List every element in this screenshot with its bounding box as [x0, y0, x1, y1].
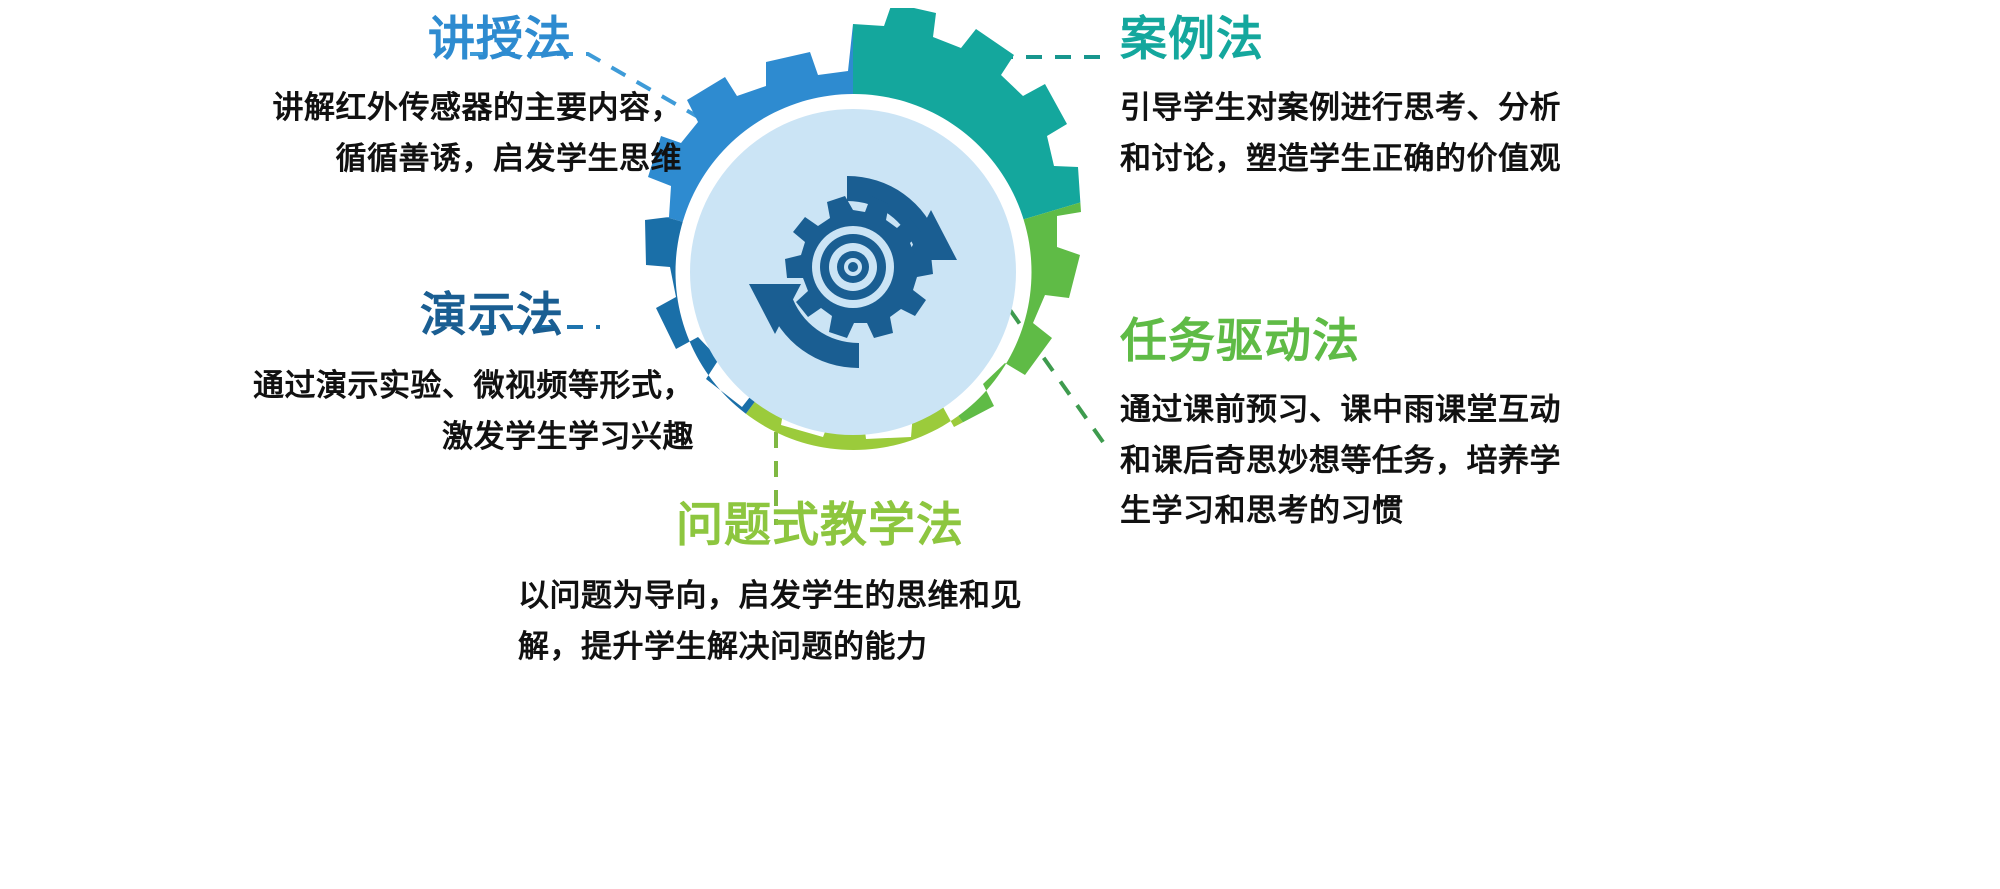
callout-demo: 演示法 通过演示实验、微视频等形式， 激发学生学习兴趣 — [120, 290, 700, 462]
callout-body-demo: 通过演示实验、微视频等形式， 激发学生学习兴趣 — [120, 361, 700, 461]
callout-line: 通过演示实验、微视频等形式， — [120, 361, 694, 411]
callout-title-task: 任务驱动法 — [1120, 316, 2000, 365]
callout-problem: 问题式教学法 以问题为导向，启发学生的思维和见 解，提升学生解决问题的能力 — [470, 500, 1170, 672]
callout-line: 和讨论，塑造学生正确的价值观 — [1120, 134, 2000, 184]
callout-line: 生学习和思考的习惯 — [1120, 486, 2000, 536]
callout-title-problem: 问题式教学法 — [470, 500, 1170, 549]
callout-line: 以问题为导向，启发学生的思维和见 — [518, 571, 1170, 621]
callout-task: 任务驱动法 通过课前预习、课中雨课堂互动 和课后奇思妙想等任务，培养学 生学习和… — [1120, 316, 2000, 536]
callout-title-demo: 演示法 — [120, 290, 700, 339]
infographic-canvas: 讲授法 讲解红外传感器的主要内容， 循循善诱，启发学生思维 案例法 引导学生对案… — [0, 0, 2000, 889]
callout-case: 案例法 引导学生对案例进行思考、分析 和讨论，塑造学生正确的价值观 — [1120, 14, 2000, 184]
callout-line: 讲解红外传感器的主要内容， — [140, 83, 682, 133]
callout-lecture: 讲授法 讲解红外传感器的主要内容， 循循善诱，启发学生思维 — [140, 14, 700, 184]
callout-body-problem: 以问题为导向，启发学生的思维和见 解，提升学生解决问题的能力 — [470, 571, 1170, 671]
callout-line: 和课后奇思妙想等任务，培养学 — [1120, 436, 2000, 486]
callout-line: 解，提升学生解决问题的能力 — [518, 622, 1170, 672]
callout-line: 通过课前预习、课中雨课堂互动 — [1120, 385, 2000, 435]
callout-body-case: 引导学生对案例进行思考、分析 和讨论，塑造学生正确的价值观 — [1120, 83, 2000, 183]
callout-line: 激发学生学习兴趣 — [120, 412, 694, 462]
callout-body-lecture: 讲解红外传感器的主要内容， 循循善诱，启发学生思维 — [140, 83, 700, 183]
callout-line: 引导学生对案例进行思考、分析 — [1120, 83, 2000, 133]
callout-line: 循循善诱，启发学生思维 — [140, 134, 682, 184]
callout-title-lecture: 讲授法 — [140, 14, 700, 63]
callout-body-task: 通过课前预习、课中雨课堂互动 和课后奇思妙想等任务，培养学 生学习和思考的习惯 — [1120, 385, 2000, 536]
callout-title-case: 案例法 — [1120, 14, 2000, 63]
